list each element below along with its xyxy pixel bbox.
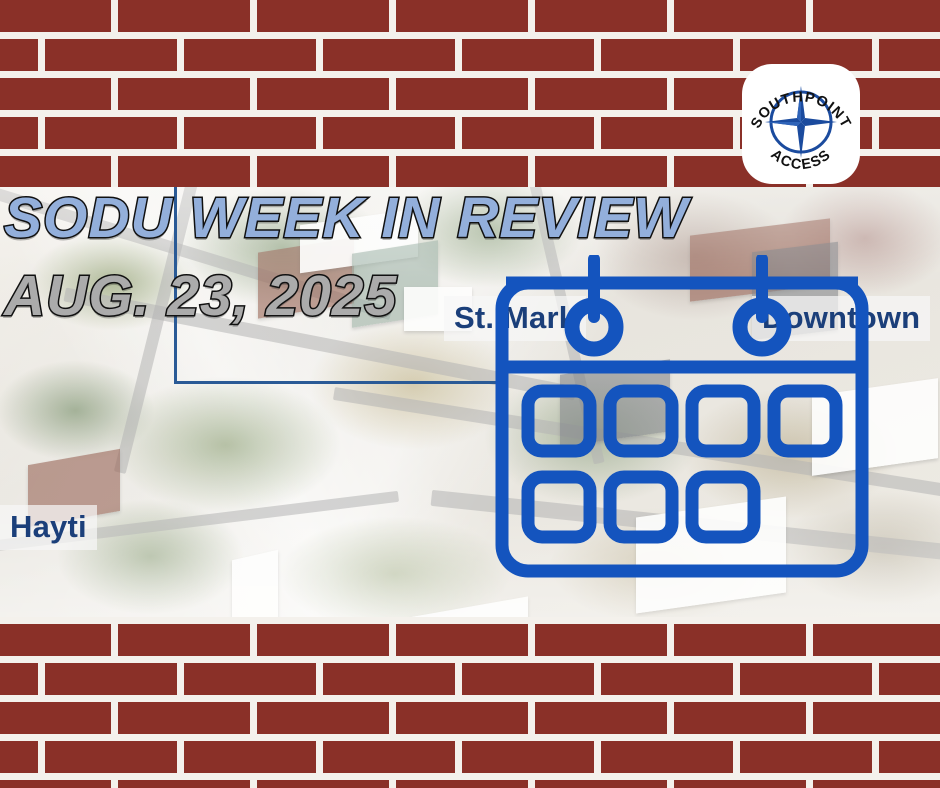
map-label-hayti: Hayti xyxy=(0,505,97,550)
map-label-downtown: Downtown xyxy=(752,296,930,341)
brick-row xyxy=(0,624,940,656)
brick-row xyxy=(0,780,940,788)
announcement-graphic: Hayti St. Mark Downtown xyxy=(0,0,940,788)
brick-row xyxy=(0,741,940,773)
brick-row xyxy=(0,663,940,695)
map-boundary-line xyxy=(174,381,504,384)
brick-row xyxy=(0,0,940,32)
date-line: AUG. 23, 2025 xyxy=(4,268,704,325)
logo-badge: SOUTHPOINT ACCESS xyxy=(742,64,860,184)
brick-row xyxy=(0,702,940,734)
headline-block: SODU WEEK IN REVIEW AUG. 23, 2025 xyxy=(4,190,704,325)
page-title: SODU WEEK IN REVIEW xyxy=(4,190,704,247)
